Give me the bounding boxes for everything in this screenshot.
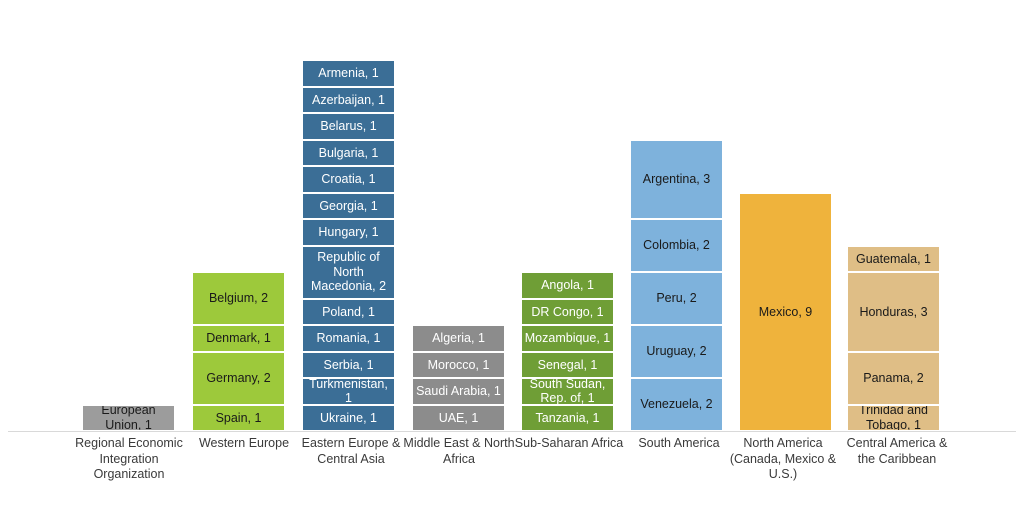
bar-segment-label: Belgium, 2 bbox=[195, 291, 282, 305]
category-label: South America bbox=[620, 436, 738, 452]
bar-segment[interactable]: Trinidad and Tobago, 1 bbox=[847, 405, 940, 432]
bar-segment[interactable]: Germany, 2 bbox=[192, 352, 285, 405]
bar-segment[interactable]: Colombia, 2 bbox=[630, 219, 723, 272]
bar-segment-label: Trinidad and Tobago, 1 bbox=[850, 405, 937, 432]
bar-column[interactable]: Guatemala, 1Honduras, 3Panama, 2Trinidad… bbox=[847, 246, 940, 432]
bar-segment[interactable]: Bulgaria, 1 bbox=[302, 140, 395, 167]
bar-segment-label: Croatia, 1 bbox=[305, 172, 392, 186]
bar-segment-label: Guatemala, 1 bbox=[850, 252, 937, 266]
category-label: Middle East & North Africa bbox=[400, 436, 518, 467]
bar-segment-label: Algeria, 1 bbox=[415, 331, 502, 345]
bar-segment[interactable]: Belarus, 1 bbox=[302, 113, 395, 140]
x-axis-line bbox=[8, 431, 1016, 432]
bar-segment-label: Colombia, 2 bbox=[633, 238, 720, 252]
bar-segment[interactable]: Tanzania, 1 bbox=[521, 405, 614, 432]
bar-segment[interactable]: Spain, 1 bbox=[192, 405, 285, 432]
bar-segment-label: Armenia, 1 bbox=[305, 66, 392, 80]
bar-segment[interactable]: Morocco, 1 bbox=[412, 352, 505, 379]
bar-segment-label: Venezuela, 2 bbox=[633, 397, 720, 411]
bar-segment-label: Georgia, 1 bbox=[305, 199, 392, 213]
bar-segment[interactable]: Argentina, 3 bbox=[630, 140, 723, 220]
bar-segment[interactable]: Angola, 1 bbox=[521, 272, 614, 299]
bar-segment-label: Germany, 2 bbox=[195, 371, 282, 385]
bar-segment[interactable]: Panama, 2 bbox=[847, 352, 940, 405]
bar-segment-label: Belarus, 1 bbox=[305, 119, 392, 133]
bar-segment[interactable]: Serbia, 1 bbox=[302, 352, 395, 379]
bar-segment-label: Angola, 1 bbox=[524, 278, 611, 292]
category-label: Western Europe bbox=[185, 436, 303, 452]
bar-segment[interactable]: Armenia, 1 bbox=[302, 60, 395, 87]
bar-segment[interactable]: Turkmenistan, 1 bbox=[302, 378, 395, 405]
bar-segment-label: DR Congo, 1 bbox=[524, 305, 611, 319]
bar-segment-label: Republic of North Macedonia, 2 bbox=[305, 250, 392, 293]
bar-segment-label: Panama, 2 bbox=[850, 371, 937, 385]
bar-segment[interactable]: Uruguay, 2 bbox=[630, 325, 723, 378]
bar-segment[interactable]: Honduras, 3 bbox=[847, 272, 940, 352]
bar-column[interactable]: Algeria, 1Morocco, 1Saudi Arabia, 1UAE, … bbox=[412, 325, 505, 431]
bar-segment-label: Mozambique, 1 bbox=[524, 331, 611, 345]
bar-segment[interactable]: Denmark, 1 bbox=[192, 325, 285, 352]
bar-segment-label: Denmark, 1 bbox=[195, 331, 282, 345]
bar-column[interactable]: European Union, 1 bbox=[82, 405, 175, 432]
bar-segment[interactable]: Hungary, 1 bbox=[302, 219, 395, 246]
bar-segment[interactable]: UAE, 1 bbox=[412, 405, 505, 432]
stacked-bar-chart: European Union, 1Belgium, 2Denmark, 1Ger… bbox=[0, 0, 1024, 529]
bar-segment[interactable]: South Sudan, Rep. of, 1 bbox=[521, 378, 614, 405]
bar-column[interactable]: Mexico, 9 bbox=[739, 193, 832, 432]
bar-segment[interactable]: Venezuela, 2 bbox=[630, 378, 723, 431]
bar-segment-label: South Sudan, Rep. of, 1 bbox=[524, 378, 611, 405]
bar-column[interactable]: Armenia, 1Azerbaijan, 1Belarus, 1Bulgari… bbox=[302, 60, 395, 431]
bar-segment-label: Azerbaijan, 1 bbox=[305, 93, 392, 107]
category-label: Eastern Europe & Central Asia bbox=[292, 436, 410, 467]
bar-column[interactable]: Angola, 1DR Congo, 1Mozambique, 1Senegal… bbox=[521, 272, 614, 431]
bar-segment-label: Poland, 1 bbox=[305, 305, 392, 319]
bar-segment[interactable]: Romania, 1 bbox=[302, 325, 395, 352]
bar-segment[interactable]: European Union, 1 bbox=[82, 405, 175, 432]
bar-segment[interactable]: Georgia, 1 bbox=[302, 193, 395, 220]
bar-segment[interactable]: Senegal, 1 bbox=[521, 352, 614, 379]
bar-segment[interactable]: Mozambique, 1 bbox=[521, 325, 614, 352]
bar-segment-label: Honduras, 3 bbox=[850, 305, 937, 319]
bar-segment-label: Saudi Arabia, 1 bbox=[415, 384, 502, 398]
bar-segment-label: Argentina, 3 bbox=[633, 172, 720, 186]
plot-area: European Union, 1Belgium, 2Denmark, 1Ger… bbox=[0, 0, 1024, 431]
bar-segment[interactable]: Republic of North Macedonia, 2 bbox=[302, 246, 395, 299]
bar-segment-label: Turkmenistan, 1 bbox=[305, 378, 392, 405]
bar-segment-label: Tanzania, 1 bbox=[524, 411, 611, 425]
bar-segment[interactable]: Algeria, 1 bbox=[412, 325, 505, 352]
bar-segment-label: European Union, 1 bbox=[85, 405, 172, 432]
bar-segment[interactable]: Croatia, 1 bbox=[302, 166, 395, 193]
bar-segment[interactable]: Poland, 1 bbox=[302, 299, 395, 326]
category-label: Sub-Saharan Africa bbox=[510, 436, 628, 452]
bar-segment-label: UAE, 1 bbox=[415, 411, 502, 425]
bar-segment-label: Serbia, 1 bbox=[305, 358, 392, 372]
bar-segment-label: Senegal, 1 bbox=[524, 358, 611, 372]
category-label: Central America & the Caribbean bbox=[838, 436, 956, 467]
bar-column[interactable]: Argentina, 3Colombia, 2Peru, 2Uruguay, 2… bbox=[630, 140, 723, 432]
bar-segment[interactable]: Azerbaijan, 1 bbox=[302, 87, 395, 114]
bar-segment-label: Mexico, 9 bbox=[742, 305, 829, 319]
bar-segment[interactable]: Ukraine, 1 bbox=[302, 405, 395, 432]
bar-segment-label: Peru, 2 bbox=[633, 291, 720, 305]
bar-segment[interactable]: DR Congo, 1 bbox=[521, 299, 614, 326]
category-axis-labels: Regional Economic Integration Organizati… bbox=[0, 436, 1024, 526]
bar-segment-label: Spain, 1 bbox=[195, 411, 282, 425]
bar-segment[interactable]: Mexico, 9 bbox=[739, 193, 832, 432]
bar-segment[interactable]: Belgium, 2 bbox=[192, 272, 285, 325]
bar-segment-label: Hungary, 1 bbox=[305, 225, 392, 239]
bar-segment[interactable]: Saudi Arabia, 1 bbox=[412, 378, 505, 405]
bar-segment-label: Uruguay, 2 bbox=[633, 344, 720, 358]
bar-segment-label: Romania, 1 bbox=[305, 331, 392, 345]
bar-segment[interactable]: Guatemala, 1 bbox=[847, 246, 940, 273]
bar-column[interactable]: Belgium, 2Denmark, 1Germany, 2Spain, 1 bbox=[192, 272, 285, 431]
category-label: Regional Economic Integration Organizati… bbox=[70, 436, 188, 483]
bar-segment-label: Morocco, 1 bbox=[415, 358, 502, 372]
bar-segment[interactable]: Peru, 2 bbox=[630, 272, 723, 325]
category-label: North America (Canada, Mexico & U.S.) bbox=[724, 436, 842, 483]
bar-segment-label: Bulgaria, 1 bbox=[305, 146, 392, 160]
bar-segment-label: Ukraine, 1 bbox=[305, 411, 392, 425]
